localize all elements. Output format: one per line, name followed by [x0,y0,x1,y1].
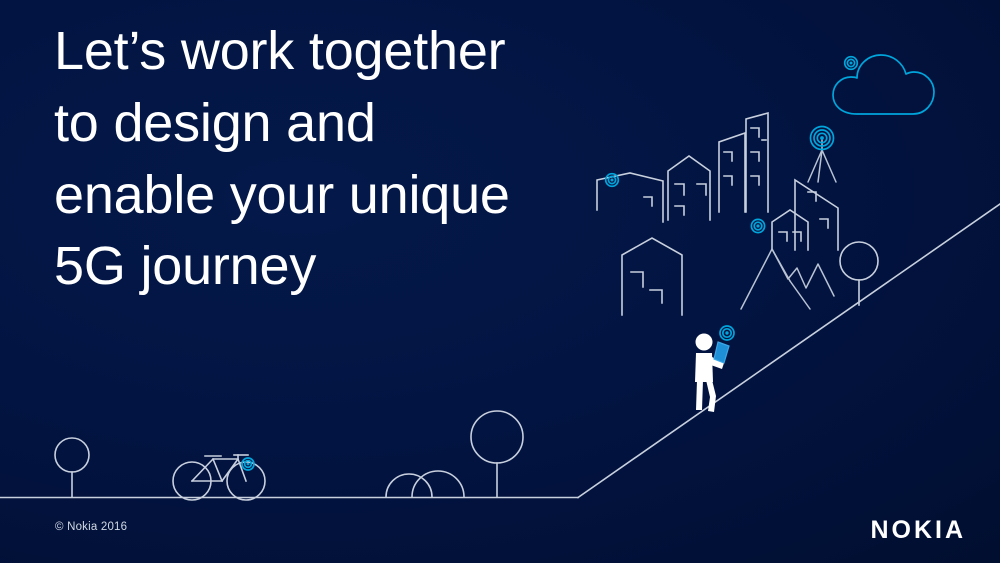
building-icon [622,238,682,315]
uphill-slope-line [578,204,1000,498]
cloud-signal-dot-icon [845,57,858,70]
building-signal-dot-icon [751,219,764,232]
smartphone-icon [714,342,729,363]
bicycle-signal-dot-icon [242,458,254,470]
page-title: Let’s work together to design and enable… [54,16,614,303]
nokia-logo: NOKIA [870,516,966,545]
cell-tower-icon [808,127,836,183]
tree-icon [471,411,523,497]
nokia-5g-slide: Let’s work together to design and enable… [0,0,1000,563]
tree-icon [840,242,878,305]
building-icon [746,113,768,212]
bush-icon [412,471,464,497]
person-signal-dot-icon [720,326,734,340]
tree-icon [55,438,89,497]
mountain-icon [741,249,834,309]
copyright-notice: © Nokia 2016 [55,521,127,533]
building-icon [772,210,808,250]
bush-icon [386,474,432,497]
building-icon [668,156,710,220]
building-icon [719,133,745,212]
